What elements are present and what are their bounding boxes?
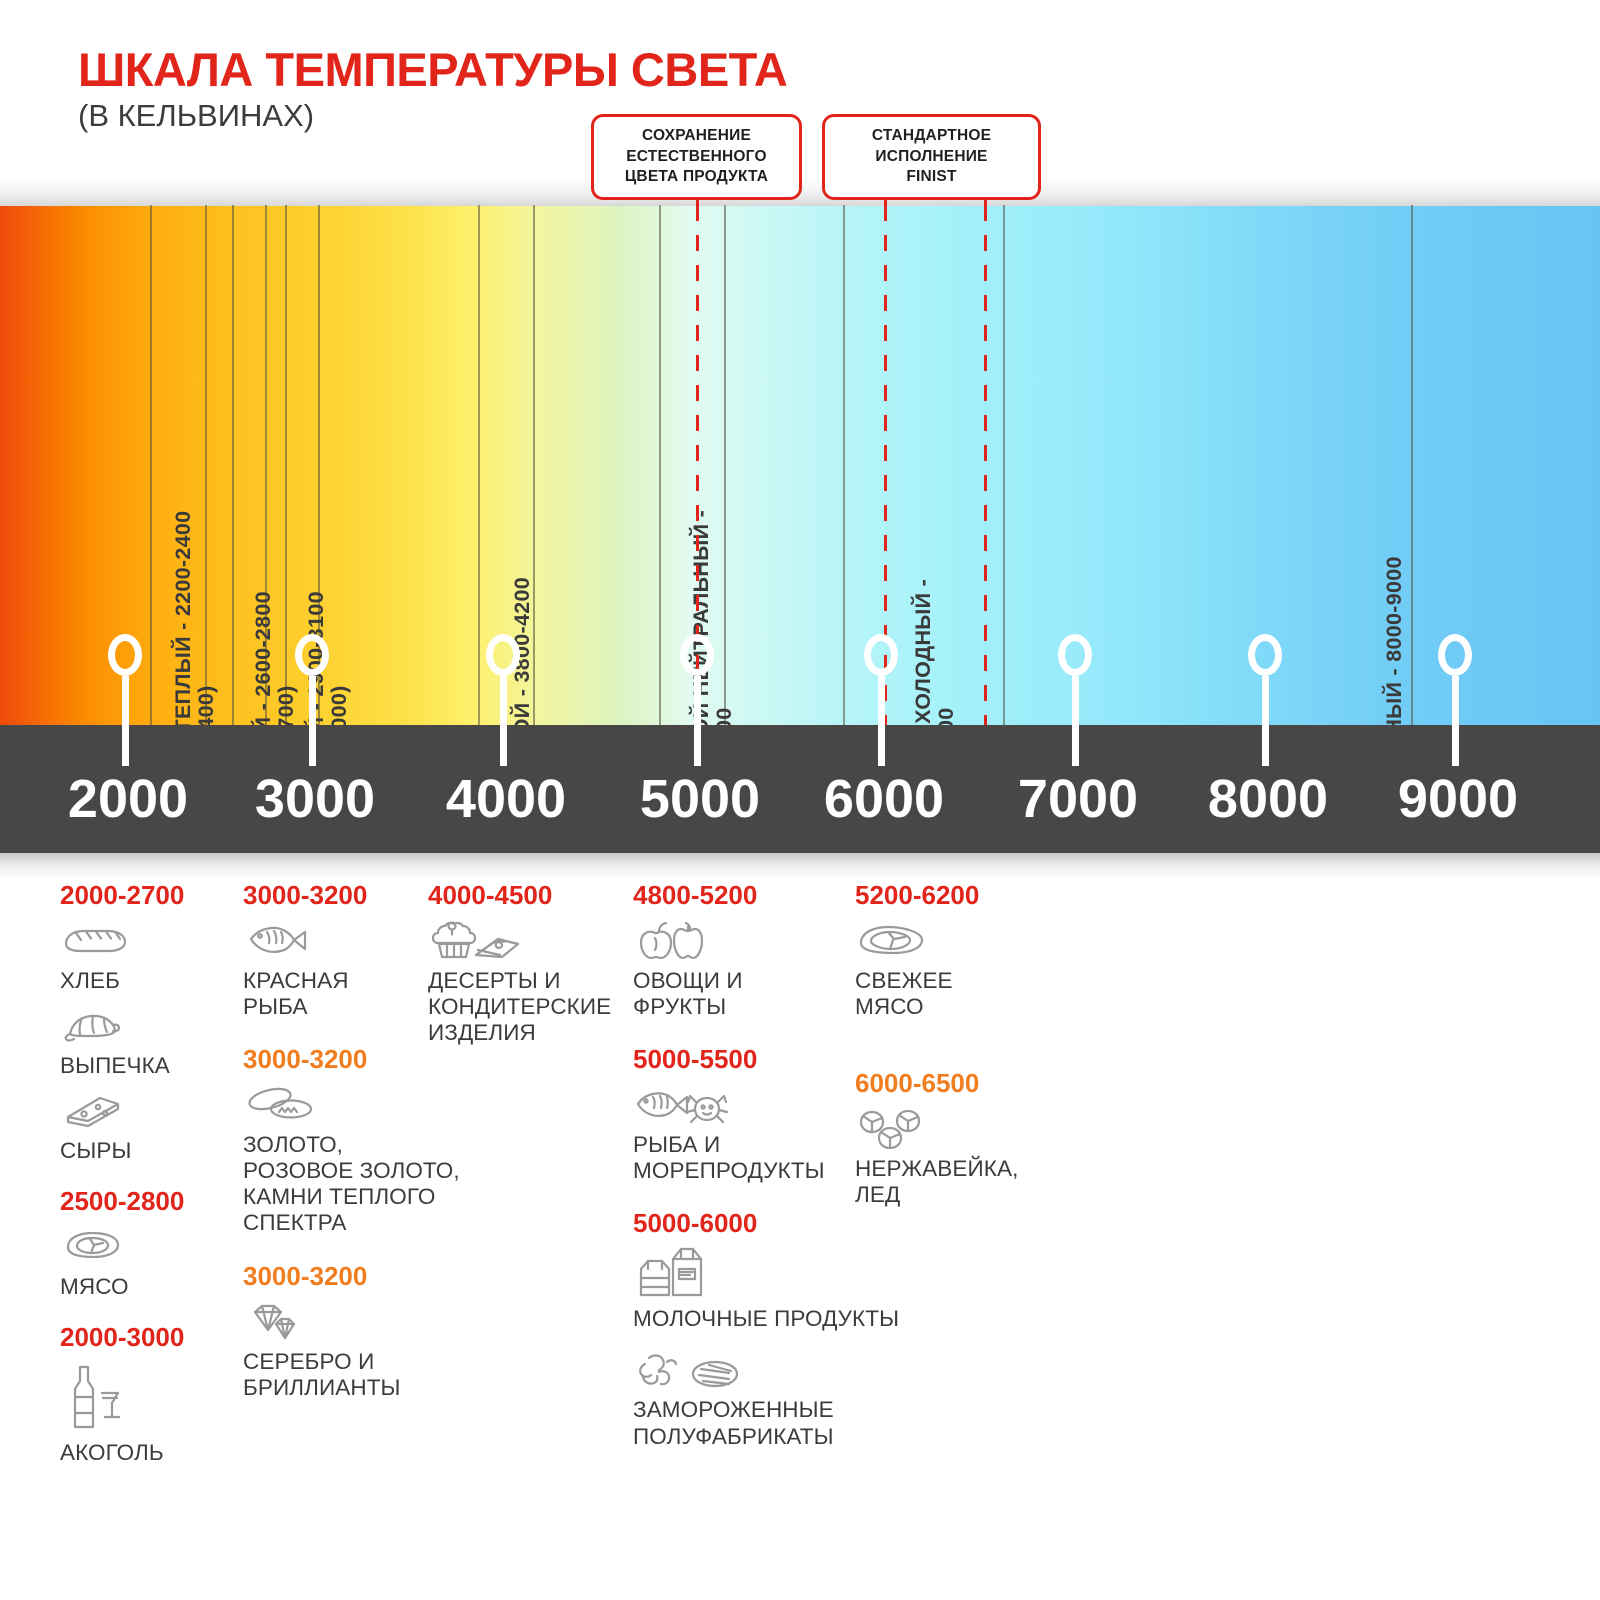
steak-icon (60, 1225, 240, 1271)
legend-item-label: РЫБА И МОРЕПРОДУКТЫ (633, 1132, 848, 1184)
list-item: СВЕЖЕЕ МЯСО (855, 919, 1045, 1020)
cheese-icon (60, 1089, 240, 1135)
list-item: ЗОЛОТО, РОЗОВОЕ ЗОЛОТО, КАМНИ ТЕПЛОГО СП… (243, 1083, 483, 1236)
scale-marker-9000 (1438, 634, 1472, 766)
legend-range: 3000-3200 (243, 1261, 483, 1292)
band-separator (1411, 205, 1413, 725)
legend-group: 5200-6200 СВЕЖЕЕ МЯСО (855, 880, 1045, 1020)
legend-group: 3000-3200 ЗОЛОТО, РОЗОВОЕ ЗОЛОТО, КАМНИ … (243, 1044, 483, 1236)
frozen-food-icon (633, 1348, 933, 1394)
list-item: ДЕСЕРТЫ И КОНДИТЕРСКИЕ ИЗДЕЛИЯ (428, 919, 628, 1046)
band-separator (150, 205, 152, 725)
scale-marker-4000 (486, 634, 520, 766)
list-item: СЕРЕБРО И БРИЛЛИАНТЫ (243, 1300, 483, 1401)
legend-item-label: ДЕСЕРТЫ И КОНДИТЕРСКИЕ ИЗДЕЛИЯ (428, 968, 628, 1046)
legend-item-label: АКОГОЛЬ (60, 1440, 240, 1466)
callout-natural-line2: ЕСТЕСТВЕННОГО (604, 147, 789, 168)
marker-ring (108, 634, 142, 676)
rings-icon (243, 1083, 483, 1129)
marker-stem (694, 676, 701, 766)
legend-item-label: ОВОЩИ И ФРУКТЫ (633, 968, 848, 1020)
legend-range: 2500-2800 (60, 1186, 240, 1217)
band-separator (232, 205, 234, 725)
alcohol-icon (60, 1361, 240, 1437)
scale-tick-2000: 2000 (68, 768, 188, 830)
list-item: ХЛЕБ (60, 919, 240, 994)
infographic-root: ШКАЛА ТЕМПЕРАТУРЫ СВЕТА (В КЕЛЬВИНАХ) СО… (0, 0, 1600, 1600)
scale-bar (0, 725, 1600, 853)
callout-finist-standard: СТАНДАРТНОЕ ИСПОЛНЕНИЕ FINIST (822, 114, 1041, 200)
page-subtitle: (В КЕЛЬВИНАХ) (78, 98, 314, 134)
scale-tick-5000: 5000 (640, 768, 760, 830)
legend-column-1: 2000-2700 ХЛЕБ (60, 880, 240, 1476)
scale-tick-6000: 6000 (824, 768, 944, 830)
ice-cubes-icon (855, 1107, 1045, 1153)
milk-icon (633, 1247, 933, 1303)
scale-tick-9000: 9000 (1398, 768, 1518, 830)
marker-ring (1248, 634, 1282, 676)
list-item: РЫБА И МОРЕПРОДУКТЫ (633, 1083, 848, 1184)
legend-group: 3000-3200 СЕРЕБРО И БРИЛЛИАНТЫ (243, 1261, 483, 1401)
band-label-super-warm: СУПЕР ТЕПЛЫЙ - 2200-2400 (тип К 2400) (172, 511, 218, 725)
fresh-meat-icon (855, 919, 1045, 965)
legend-item-label: ЗОЛОТО, РОЗОВОЕ ЗОЛОТО, КАМНИ ТЕПЛОГО СП… (243, 1132, 483, 1236)
legend-range: 2000-2700 (60, 880, 240, 911)
legend-range: 4800-5200 (633, 880, 848, 911)
diamond-icon (243, 1300, 483, 1346)
croissant-icon (60, 1004, 240, 1050)
list-item: НЕРЖАВЕЙКА, ЛЕД (855, 1107, 1045, 1208)
legend-column-4: 4800-5200 ОВОЩИ И ФРУКТЫ 5 (633, 880, 848, 1460)
scale-tick-8000: 8000 (1208, 768, 1328, 830)
legend-group: 5000-5500 (633, 1044, 848, 1184)
legend-item-label: ВЫПЕЧКА (60, 1053, 240, 1079)
band-separator (478, 205, 480, 725)
bread-icon (60, 919, 240, 965)
legend-range: 6000-6500 (855, 1068, 1045, 1099)
legend-item-label: СЕРЕБРО И БРИЛЛИАНТЫ (243, 1349, 483, 1401)
list-item: ЗАМОРОЖЕННЫЕ ПОЛУФАБРИКАТЫ (633, 1348, 933, 1449)
scale-marker-2000 (108, 634, 142, 766)
legend-item-label: ХЛЕБ (60, 968, 240, 994)
legend-group: 2500-2800 МЯСО (60, 1186, 240, 1300)
scale-bar-shadow (0, 853, 1600, 879)
list-item: ОВОЩИ И ФРУКТЫ (633, 919, 848, 1020)
legend-column-5: 5200-6200 СВЕЖЕЕ МЯСО 6000-6500 (855, 880, 1045, 1218)
scale-marker-8000 (1248, 634, 1282, 766)
legend-range: 2000-3000 (60, 1322, 240, 1353)
band-label-white-cold: БЕЛЫЙ ХОЛОДНЫЙ - 5800-6500 (912, 579, 958, 725)
legend-item-label: НЕРЖАВЕЙКА, ЛЕД (855, 1156, 1045, 1208)
marker-ring (1438, 634, 1472, 676)
band-separator (843, 205, 845, 725)
marker-stem (1452, 676, 1459, 766)
scale-marker-5000 (680, 634, 714, 766)
legend-group: 6000-6500 НЕРЖАВЕЙКА, ЛЕД (855, 1068, 1045, 1208)
scale-marker-7000 (1058, 634, 1092, 766)
callout-finist-line3: FINIST (835, 167, 1028, 188)
band-label-cold: ХОЛОДНЫЙ - 8000-9000 (1382, 556, 1407, 725)
legend-column-3: 4000-4500 ДЕСЕРТЫ И КОНДИТЕР (428, 880, 628, 1056)
callout-finist-line1: СТАНДАРТНОЕ (835, 126, 1028, 147)
legend-item-label: СЫРЫ (60, 1138, 240, 1164)
band-label-warm-2700: ТЕПЛЫЙ - 2600-2800 (тип К 2700) (252, 591, 298, 725)
marker-ring (864, 634, 898, 676)
list-item: МОЛОЧНЫЕ ПРОДУКТЫ (633, 1247, 933, 1332)
legend-group: 2000-2700 ХЛЕБ (60, 880, 240, 1164)
legend-item-label: ЗАМОРОЖЕННЫЕ ПОЛУФАБРИКАТЫ (633, 1397, 933, 1449)
page-title: ШКАЛА ТЕМПЕРАТУРЫ СВЕТА (78, 42, 787, 97)
boundary-dash-finist-right (984, 205, 987, 725)
seafood-icon (633, 1083, 848, 1129)
legend-item-label: СВЕЖЕЕ МЯСО (855, 968, 1045, 1020)
scale-tick-3000: 3000 (255, 768, 375, 830)
legend: 2000-2700 ХЛЕБ (0, 880, 1600, 1600)
band-separator (659, 205, 661, 725)
list-item: АКОГОЛЬ (60, 1361, 240, 1466)
color-temperature-strip: СУПЕР ТЕПЛЫЙ - 2200-2400 (тип К 2400) ТЕ… (0, 205, 1600, 725)
marker-ring (680, 634, 714, 676)
list-item: МЯСО (60, 1225, 240, 1300)
scale-tick-7000: 7000 (1018, 768, 1138, 830)
callout-natural-color: СОХРАНЕНИЕ ЕСТЕСТВЕННОГО ЦВЕТА ПРОДУКТА (591, 114, 802, 200)
legend-group: 2000-3000 АКОГОЛЬ (60, 1322, 240, 1466)
gradient-bar (0, 205, 1600, 725)
legend-range: 4000-4500 (428, 880, 628, 911)
marker-ring (486, 634, 520, 676)
fruits-vegetables-icon (633, 919, 848, 965)
list-item: ВЫПЕЧКА (60, 1004, 240, 1079)
marker-ring (295, 634, 329, 676)
legend-group: 5000-6000 МОЛОЧНЫЕ ПРОДУКТЫ (633, 1208, 933, 1449)
legend-item-label: МЯСО (60, 1274, 240, 1300)
scale-marker-6000 (864, 634, 898, 766)
scale-tick-4000: 4000 (446, 768, 566, 830)
legend-range: 5200-6200 (855, 880, 1045, 911)
marker-stem (878, 676, 885, 766)
marker-stem (1262, 676, 1269, 766)
legend-item-label: МОЛОЧНЫЕ ПРОДУКТЫ (633, 1306, 933, 1332)
callout-finist-line2: ИСПОЛНЕНИЕ (835, 147, 1028, 168)
callout-natural-line3: ЦВЕТА ПРОДУКТА (604, 167, 789, 188)
dessert-icon (428, 919, 628, 965)
marker-stem (1072, 676, 1079, 766)
callout-natural-line1: СОХРАНЕНИЕ (604, 126, 789, 147)
band-separator (1003, 205, 1005, 725)
legend-range: 5000-5500 (633, 1044, 848, 1075)
list-item: СЫРЫ (60, 1089, 240, 1164)
marker-stem (122, 676, 129, 766)
marker-stem (309, 676, 316, 766)
marker-stem (500, 676, 507, 766)
legend-group: 4000-4500 ДЕСЕРТЫ И КОНДИТЕР (428, 880, 628, 1046)
legend-group: 4800-5200 ОВОЩИ И ФРУКТЫ (633, 880, 848, 1020)
scale-marker-3000 (295, 634, 329, 766)
marker-ring (1058, 634, 1092, 676)
